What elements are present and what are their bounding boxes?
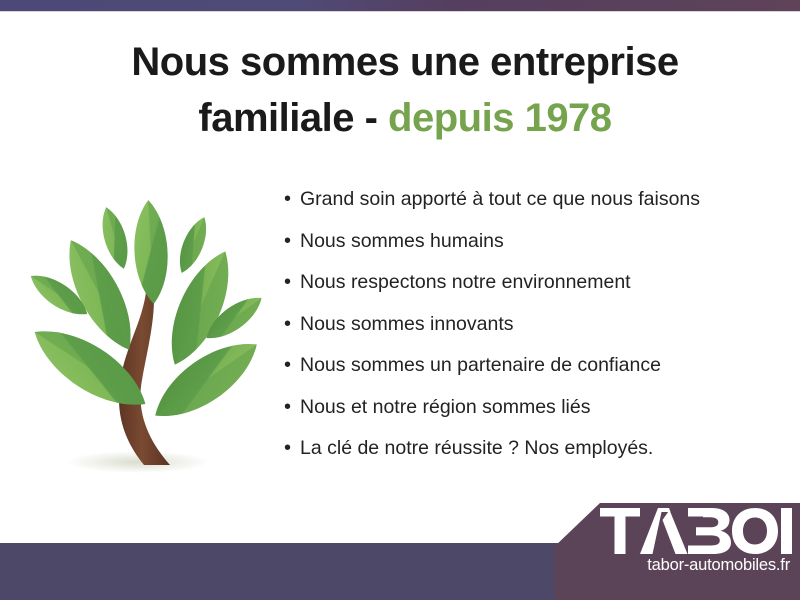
list-item-label: La clé de notre réussite ? Nos employés. xyxy=(300,437,653,460)
bullet-marker-icon: • xyxy=(284,271,300,294)
title-line-2-plain: familiale xyxy=(198,96,354,140)
logo-wordmark xyxy=(600,508,792,554)
top-accent-bar xyxy=(0,0,800,11)
list-item: • Nous sommes humains xyxy=(284,230,754,254)
slide-canvas: Nous sommes une entreprise familiale - d… xyxy=(0,0,800,600)
title-line-1: Nous sommes une entreprise xyxy=(60,34,750,90)
list-item-label: Nous et notre région sommes liés xyxy=(300,396,590,419)
list-item: • Nous respectons notre environnement xyxy=(284,271,754,295)
title-line-2: familiale - depuis 1978 xyxy=(60,90,750,146)
bullet-list: • Grand soin apporté à tout ce que nous … xyxy=(284,188,754,479)
title-accent: depuis 1978 xyxy=(388,96,612,140)
list-item-label: Nous sommes humains xyxy=(300,230,504,253)
list-item-label: Nous sommes innovants xyxy=(300,313,514,336)
logo-url[interactable]: tabor-automobiles.fr xyxy=(600,556,792,575)
bullet-marker-icon: • xyxy=(284,437,300,460)
title-dash: - xyxy=(354,96,388,140)
tree-leaf xyxy=(96,204,134,271)
bullet-marker-icon: • xyxy=(284,396,300,419)
list-item: • Grand soin apporté à tout ce que nous … xyxy=(284,188,754,212)
list-item-label: Nous respectons notre environnement xyxy=(300,271,631,294)
tree-leaf xyxy=(143,327,269,433)
list-item-label: Grand soin apporté à tout ce que nous fa… xyxy=(300,188,700,211)
logo[interactable]: tabor-automobiles.fr xyxy=(600,508,792,588)
list-item: • La clé de notre réussite ? Nos employé… xyxy=(284,437,754,461)
tree-illustration xyxy=(18,190,270,490)
bullet-marker-icon: • xyxy=(284,230,300,253)
page-title: Nous sommes une entreprise familiale - d… xyxy=(60,34,750,146)
top-accent-hairline xyxy=(0,11,800,12)
bullet-marker-icon: • xyxy=(284,188,300,211)
list-item-label: Nous sommes un partenaire de confiance xyxy=(300,354,661,377)
bullet-marker-icon: • xyxy=(284,313,300,336)
list-item: • Nous et notre région sommes liés xyxy=(284,396,754,420)
list-item: • Nous sommes innovants xyxy=(284,313,754,337)
bullet-marker-icon: • xyxy=(284,354,300,377)
tree-leaf xyxy=(132,199,170,305)
list-item: • Nous sommes un partenaire de confiance xyxy=(284,354,754,378)
